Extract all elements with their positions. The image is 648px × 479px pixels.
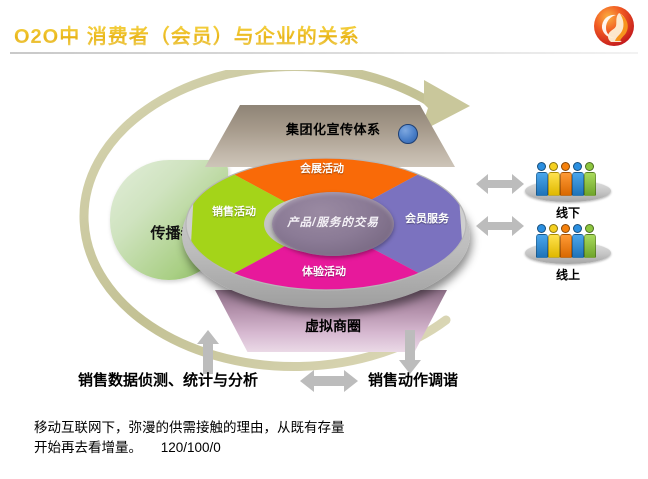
- group-offline: 线下: [525, 156, 611, 221]
- segment-label-left: 销售活动: [212, 203, 256, 219]
- group-online-label: 线上: [525, 266, 611, 283]
- bottom-label-left: 销售数据侦测、统计与分析: [78, 369, 258, 390]
- group-promotion-label: 集团化宣传体系: [286, 119, 381, 138]
- group-online: 线上: [525, 218, 611, 283]
- person-icon: [572, 162, 582, 196]
- caption-line-1: 移动互联网下，弥漫的供需接触的理由，从既有存量: [34, 418, 454, 438]
- person-icon: [584, 224, 594, 258]
- person-icon: [548, 162, 558, 196]
- double-arrow-offline-icon: [476, 172, 524, 201]
- double-arrow-sales-icon: [300, 368, 358, 399]
- person-icon: [560, 224, 570, 258]
- blue-circle-marker-icon: [398, 124, 418, 144]
- person-icon: [536, 162, 546, 196]
- group-offline-people: [536, 162, 594, 196]
- slide-header: O2O中 消费者（会员）与企业的关系: [0, 0, 648, 60]
- person-icon: [536, 224, 546, 258]
- group-online-people: [536, 224, 594, 258]
- group-offline-disc: [525, 156, 611, 202]
- page-title: O2O中 消费者（会员）与企业的关系: [14, 20, 360, 49]
- segment-label-top: 会展活动: [300, 160, 344, 176]
- squirrel-logo-icon: [592, 4, 636, 48]
- double-arrow-online-icon: [476, 214, 524, 243]
- caption-line-2: 开始再去看增量。 120/100/0: [34, 438, 454, 458]
- segment-label-right: 会员服务: [405, 210, 449, 226]
- person-icon: [572, 224, 582, 258]
- virtual-business-label: 虚拟商圈: [263, 316, 403, 336]
- person-icon: [548, 224, 558, 258]
- person-icon: [584, 162, 594, 196]
- bottom-label-right: 销售动作调谐: [368, 369, 458, 390]
- slide-canvas: O2O中 消费者（会员）与企业的关系: [0, 0, 648, 479]
- segment-label-bottom: 体验活动: [302, 263, 346, 279]
- donut-core-label: 产品/服务的交易: [272, 214, 394, 230]
- group-online-disc: [525, 218, 611, 264]
- title-divider: [10, 52, 638, 54]
- person-icon: [560, 162, 570, 196]
- caption-block: 移动互联网下，弥漫的供需接触的理由，从既有存量 开始再去看增量。 120/100…: [34, 418, 454, 458]
